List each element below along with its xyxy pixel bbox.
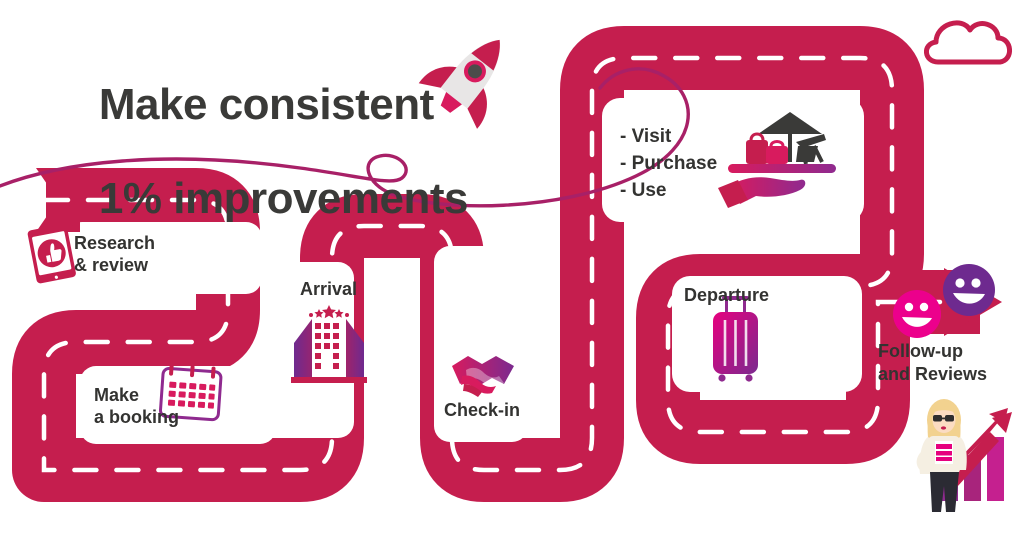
step-label-arrival: Arrival — [300, 279, 357, 301]
infographic-canvas: Make consistent 1% improvements Research… — [0, 0, 1024, 535]
step-label-booking: Make a booking — [94, 385, 179, 429]
step-label-followup: Follow-up and Reviews — [878, 340, 987, 385]
step-label-visit-purchase-use: - Visit - Purchase - Use — [620, 124, 717, 205]
step-label-research: Research & review — [74, 233, 155, 277]
step-label-departure: Departure — [684, 285, 769, 307]
step-label-checkin: Check-in — [444, 400, 520, 422]
headline-line-2: 1% improvements — [99, 174, 468, 223]
headline-line-1: Make consistent — [99, 80, 434, 129]
